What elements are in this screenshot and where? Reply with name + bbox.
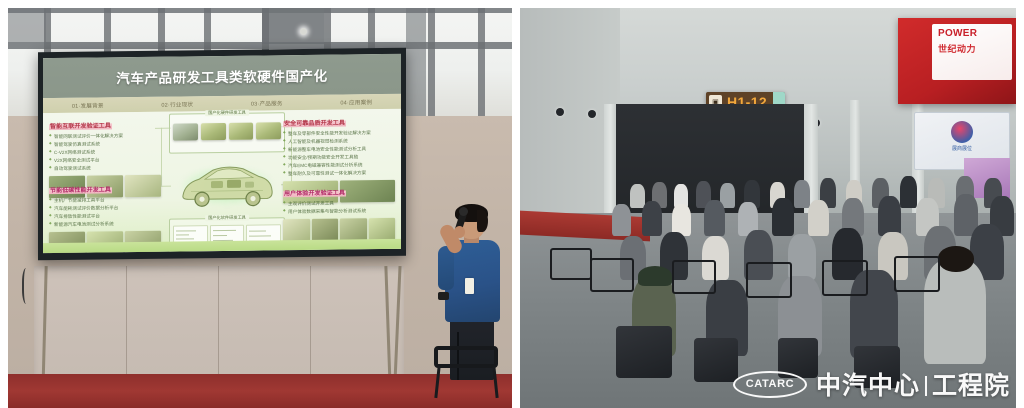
window-dark-pane bbox=[406, 8, 426, 120]
audience-head-icon bbox=[938, 246, 974, 272]
audience-person bbox=[808, 200, 829, 236]
thumbnail-image bbox=[283, 219, 310, 241]
microphone-head-icon bbox=[459, 207, 468, 216]
booth-caption: 展商展位 bbox=[952, 145, 972, 152]
window-mullion-horizontal bbox=[8, 8, 512, 13]
booth-sign-red: POWER 世纪动力 bbox=[898, 18, 1016, 104]
ceiling-speaker-icon bbox=[588, 110, 596, 118]
slide-nav-item-03: 03·产品服务 bbox=[222, 98, 312, 107]
slide-title: 汽车产品研发工具类软硬件国产化 bbox=[116, 65, 328, 88]
hardware-item bbox=[256, 122, 281, 139]
window-dark-pane bbox=[262, 8, 324, 44]
window-mullion-vertical bbox=[428, 8, 435, 126]
thumbnail-image bbox=[312, 219, 339, 241]
hardware-item-row bbox=[173, 122, 281, 140]
section-bullet-list: 整车及零部件安全性能开发验证解决方案 人工智能及机器视觉检测系统 新能源整车电池… bbox=[283, 129, 395, 179]
bullet-item: 新能源汽车电池测试分析系统 bbox=[49, 220, 161, 229]
ceiling-light-icon bbox=[300, 28, 307, 35]
audience-cap-icon bbox=[638, 266, 672, 286]
slide-center-column: 国产化硬件研发工具 bbox=[169, 112, 285, 247]
slide-body: 智能互联开发验证工具 智能网联测试评价一体化解决方案 智能驾驶仿真测试系统 C-… bbox=[43, 109, 401, 253]
section-heading: 智能互联开发验证工具 bbox=[49, 120, 161, 130]
hardware-item bbox=[201, 123, 226, 140]
slide-nav-item-01: 01·发展背景 bbox=[43, 101, 133, 110]
booth-brand-name: POWER bbox=[938, 28, 977, 39]
chair-leg bbox=[492, 366, 498, 398]
hardware-tools-panel: 国产化硬件研发工具 bbox=[169, 112, 285, 153]
hardware-item bbox=[173, 123, 198, 140]
slide-nav-item-04: 04·应用案例 bbox=[312, 97, 402, 106]
audience-person bbox=[772, 198, 794, 236]
section-bullet-list: 智能网联测试评价一体化解决方案 智能驾驶仿真测试系统 C-V2X网络测试系统 V… bbox=[49, 132, 161, 174]
audience-person bbox=[794, 180, 810, 208]
section-heading-text: 节能低碳性能开发工具 bbox=[49, 187, 112, 194]
floor-bag bbox=[616, 326, 672, 378]
hardware-item bbox=[229, 123, 254, 140]
projection-screen: 汽车产品研发工具类软硬件国产化 01·发展背景 02·行业现状 03·产品服务 … bbox=[38, 48, 406, 260]
car-illustration-wrapper bbox=[169, 156, 285, 215]
section-heading-text: 安全可靠品质开发工具 bbox=[283, 120, 346, 127]
lanyard-badge bbox=[465, 278, 474, 294]
thumbnail-image bbox=[340, 218, 367, 240]
chair bbox=[550, 248, 592, 280]
connector-line bbox=[161, 128, 162, 186]
section-bullet-list: 主机厂节能减排工具平台 汽车能耗测试评价数据分析平台 汽车排放性能测试平台 新能… bbox=[49, 196, 161, 229]
booth-sub-brand: 世纪动力 bbox=[938, 42, 976, 55]
audience-person bbox=[642, 201, 662, 236]
audience-person bbox=[612, 204, 631, 236]
slide-section-user-experience: 用户体验开发验证工具 主观评价测试开发工具 用户体验数据采集与智能分析测试系统 bbox=[283, 187, 395, 241]
conference-presentation-photo: 汽车产品研发工具类软硬件国产化 01·发展背景 02·行业现状 03·产品服务 … bbox=[8, 8, 512, 408]
presenter-hand bbox=[454, 226, 465, 238]
floor-bag bbox=[694, 338, 738, 382]
thumbnail-image bbox=[369, 218, 396, 240]
presenter-hair bbox=[477, 210, 488, 232]
software-panel-caption: 国产化软件研发工具 bbox=[205, 215, 249, 222]
bullet-item: 自动驾驶测试系统 bbox=[49, 164, 161, 173]
chair bbox=[822, 260, 868, 296]
chair bbox=[590, 258, 634, 292]
window-mullion-vertical bbox=[478, 8, 485, 126]
window-mullion-horizontal bbox=[8, 42, 512, 49]
floor-bag bbox=[854, 346, 900, 388]
section-heading-text: 智能互联开发验证工具 bbox=[49, 123, 112, 130]
cable bbox=[22, 268, 32, 304]
window-dark-pane bbox=[8, 8, 46, 42]
presentation-clicker-icon bbox=[438, 292, 449, 300]
chair-leg bbox=[434, 366, 440, 398]
audience-person bbox=[788, 234, 816, 280]
section-heading-text: 用户体验开发验证工具 bbox=[283, 190, 346, 197]
floor-bag bbox=[778, 338, 818, 378]
slide-title-bar: 汽车产品研发工具类软硬件国产化 bbox=[43, 54, 401, 98]
chair bbox=[894, 256, 940, 292]
cutaway-car-icon bbox=[175, 160, 279, 211]
photo-composite: 汽车产品研发工具类软硬件国产化 01·发展背景 02·行业现状 03·产品服务 … bbox=[0, 0, 1024, 400]
section-heading: 安全可靠品质开发工具 bbox=[283, 117, 395, 127]
slide-nav-item-02: 02·行业现状 bbox=[133, 100, 223, 109]
audience-person bbox=[630, 184, 645, 208]
booth-logo-icon bbox=[951, 121, 973, 143]
audience-person bbox=[900, 176, 917, 208]
exhibition-hall-audience-photo: ▣ H1-12 POWER 世纪动力 展商展位 bbox=[520, 8, 1016, 408]
bullet-item: 用户体验数据采集与智能分析测试系统 bbox=[283, 207, 395, 216]
audience-person bbox=[704, 200, 725, 236]
section-heading: 节能低碳性能开发工具 bbox=[49, 184, 161, 194]
chair-back bbox=[434, 346, 498, 368]
audience-person bbox=[878, 196, 901, 236]
ceiling-speaker-icon bbox=[556, 108, 564, 116]
hardware-panel-caption: 国产化硬件研发工具 bbox=[205, 110, 249, 117]
chair bbox=[672, 260, 716, 294]
projected-slide: 汽车产品研发工具类软硬件国产化 01·发展背景 02·行业现状 03·产品服务 … bbox=[43, 54, 401, 253]
chair bbox=[412, 346, 500, 400]
bullet-item: 整车耐久及可靠性测试一体化解决方案 bbox=[283, 169, 395, 178]
section-thumbnail-row bbox=[283, 218, 395, 241]
section-bullet-list: 主观评价测试开发工具 用户体验数据采集与智能分析测试系统 bbox=[283, 199, 395, 216]
booth-column bbox=[604, 104, 616, 222]
chair bbox=[746, 262, 792, 298]
section-heading: 用户体验开发验证工具 bbox=[283, 187, 395, 197]
